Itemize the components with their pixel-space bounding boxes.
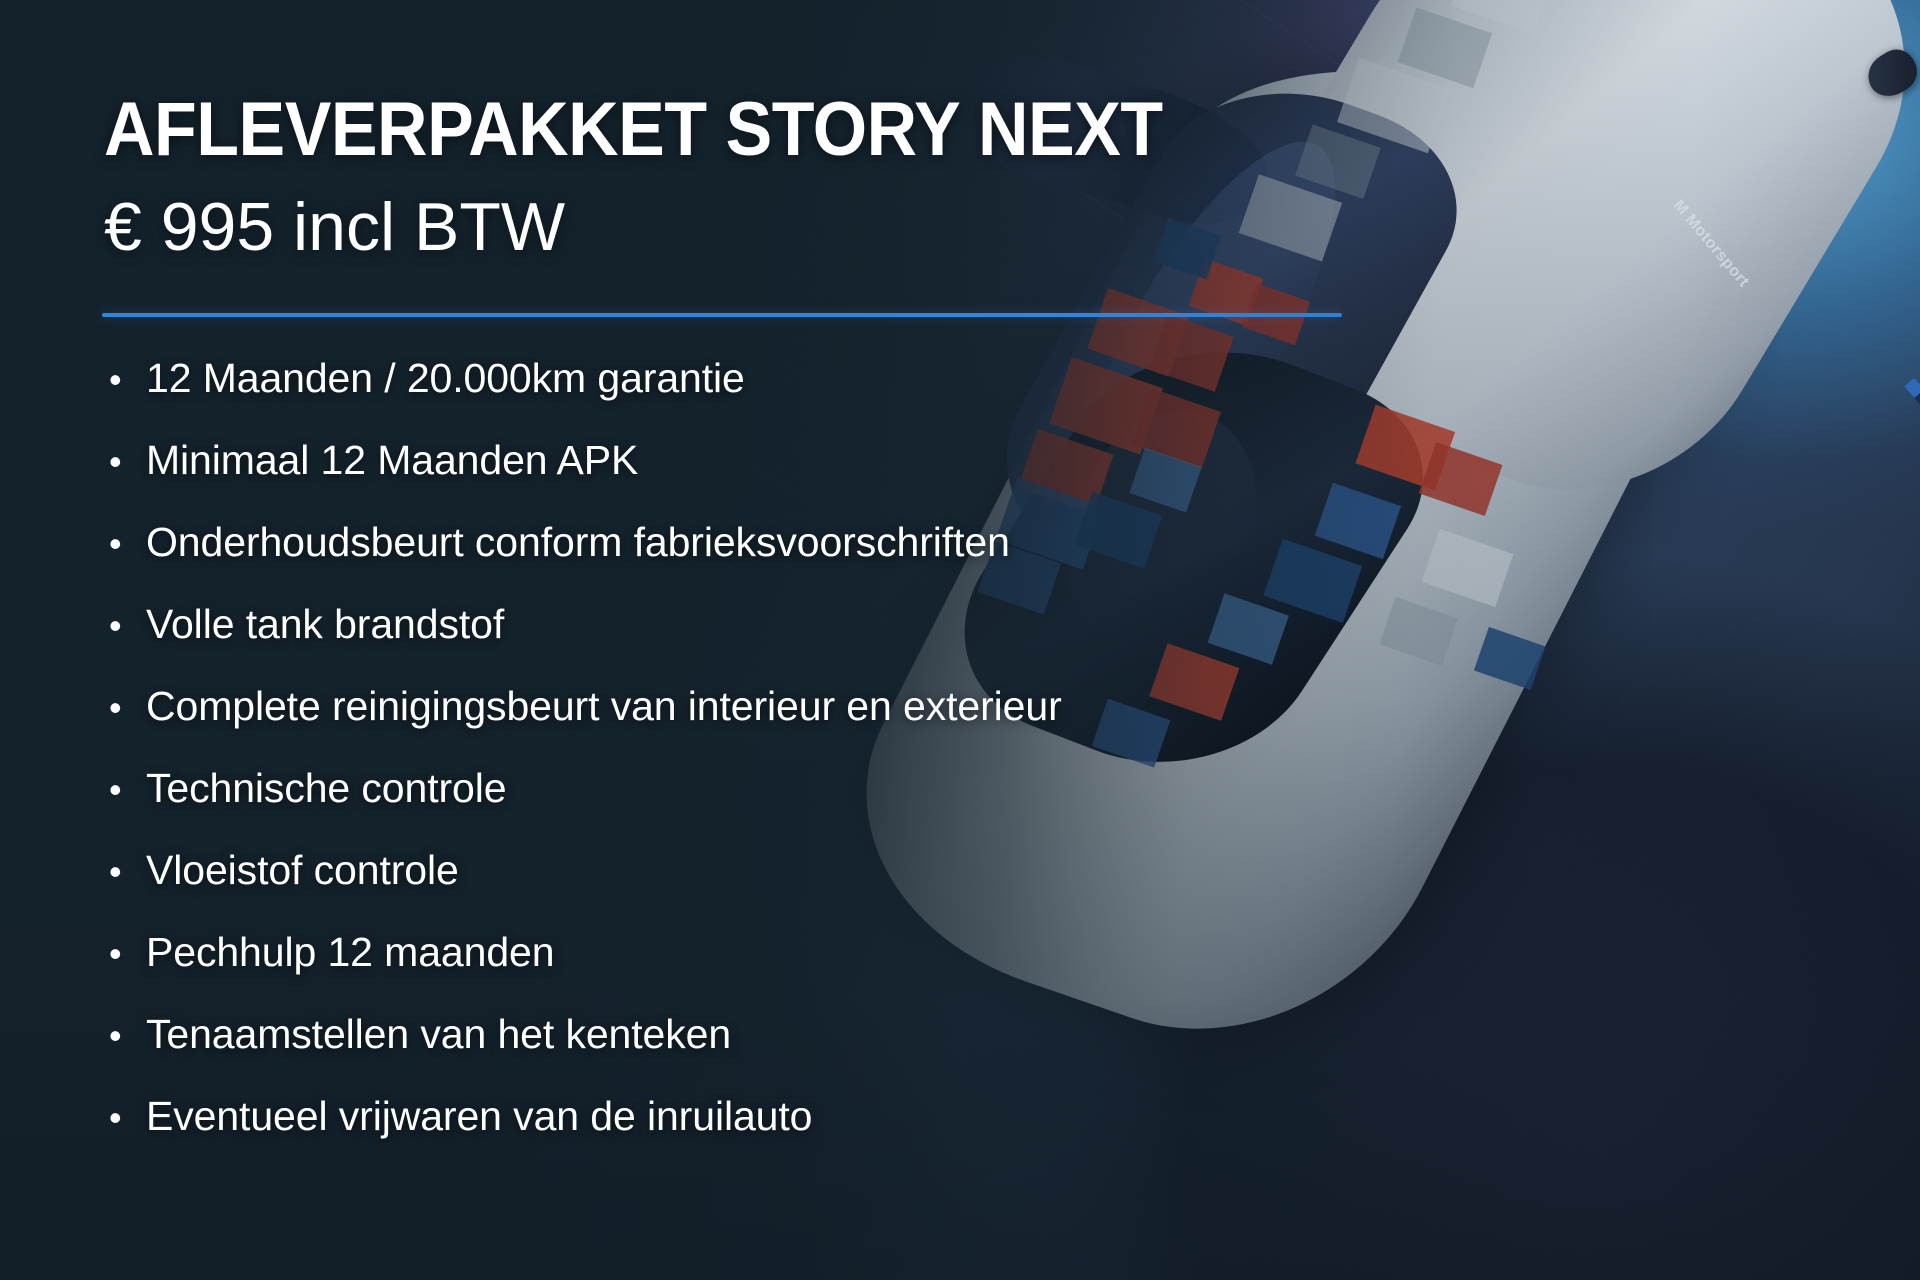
- bullet-point-icon: •: [100, 854, 146, 890]
- list-item-label: Tenaamstellen van het kenteken: [146, 1011, 731, 1058]
- list-item-label: Vloeistof controle: [146, 847, 459, 894]
- bullet-point-icon: •: [100, 1018, 146, 1054]
- list-item: •12 Maanden / 20.000km garantie: [100, 355, 1600, 437]
- list-item-label: Eventueel vrijwaren van de inruilauto: [146, 1093, 812, 1140]
- bullet-point-icon: •: [100, 936, 146, 972]
- title-divider: [102, 313, 1342, 317]
- list-item: •Technische controle: [100, 765, 1600, 847]
- bullet-point-icon: •: [100, 690, 146, 726]
- bullet-point-icon: •: [100, 362, 146, 398]
- list-item: •Volle tank brandstof: [100, 601, 1600, 683]
- list-item: •Tenaamstellen van het kenteken: [100, 1011, 1600, 1093]
- list-item: •Eventueel vrijwaren van de inruilauto: [100, 1093, 1600, 1175]
- price-subtitle: € 995 incl BTW: [104, 193, 565, 261]
- bullet-point-icon: •: [100, 608, 146, 644]
- poster-canvas: M Motorsport M Motorsport 7 MotoSport Mo…: [0, 0, 1920, 1280]
- bullet-point-icon: •: [100, 1100, 146, 1136]
- list-item-label: Complete reinigingsbeurt van interieur e…: [146, 683, 1062, 730]
- list-item-label: Minimaal 12 Maanden APK: [146, 437, 638, 484]
- bullet-point-icon: •: [100, 526, 146, 562]
- list-item: •Onderhoudsbeurt conform fabrieksvoorsch…: [100, 519, 1600, 601]
- bullet-point-icon: •: [100, 772, 146, 808]
- list-item-label: Onderhoudsbeurt conform fabrieksvoorschr…: [146, 519, 1010, 566]
- poster-content: AFLEVERPAKKET STORY NEXT € 995 incl BTW …: [0, 0, 1920, 1280]
- page-title: AFLEVERPAKKET STORY NEXT: [104, 92, 1163, 168]
- feature-list: •12 Maanden / 20.000km garantie•Minimaal…: [100, 355, 1600, 1175]
- list-item: •Minimaal 12 Maanden APK: [100, 437, 1600, 519]
- list-item: •Vloeistof controle: [100, 847, 1600, 929]
- list-item: •Pechhulp 12 maanden: [100, 929, 1600, 1011]
- list-item-label: Pechhulp 12 maanden: [146, 929, 554, 976]
- list-item-label: Technische controle: [146, 765, 506, 812]
- list-item: •Complete reinigingsbeurt van interieur …: [100, 683, 1600, 765]
- list-item-label: Volle tank brandstof: [146, 601, 504, 648]
- list-item-label: 12 Maanden / 20.000km garantie: [146, 355, 745, 402]
- bullet-point-icon: •: [100, 444, 146, 480]
